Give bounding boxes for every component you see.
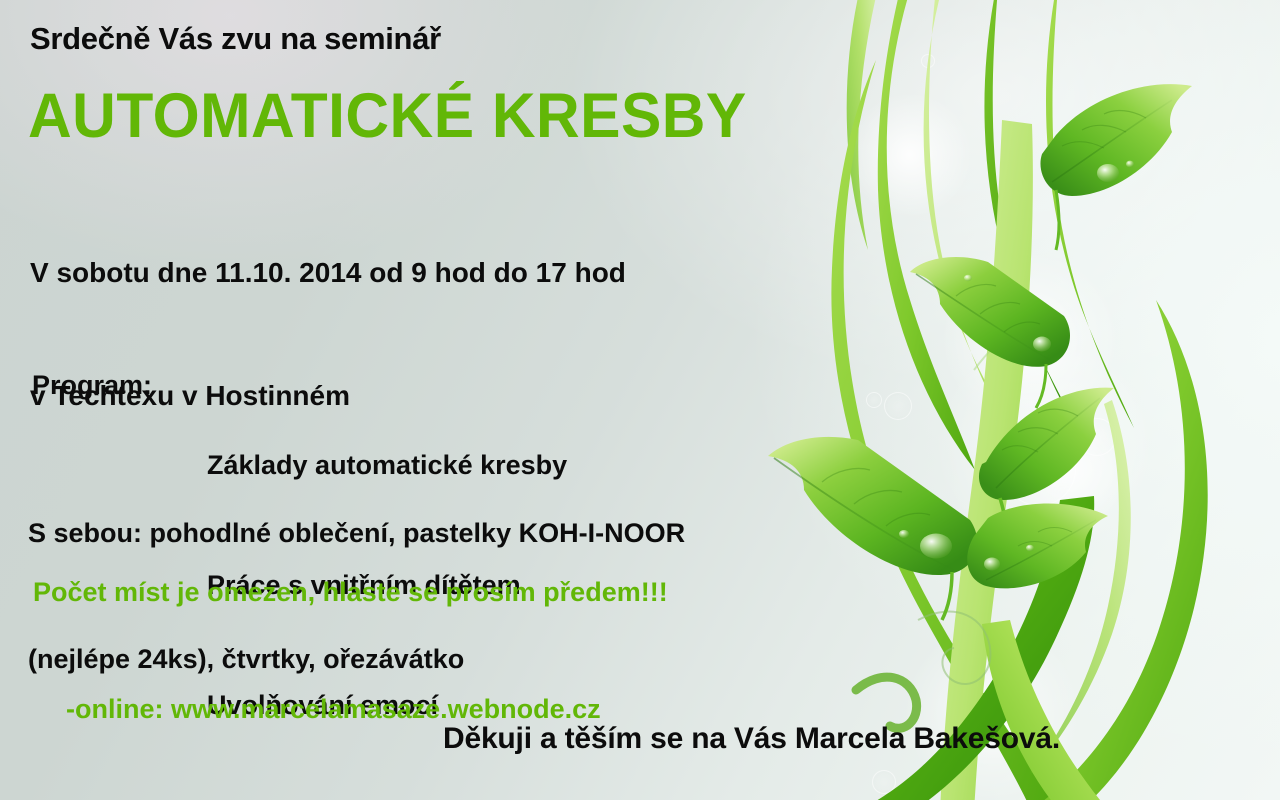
leaf-cluster-top [979, 388, 1114, 548]
water-drop-icon [964, 275, 972, 281]
page-title: AUTOMATICKÉ KRESBY [28, 80, 747, 152]
invite-line: Srdečně Vás zvu na seminář [30, 21, 441, 57]
leaf-cluster-right [967, 504, 1108, 589]
water-drop-icon [1126, 161, 1134, 168]
bokeh-circle-icon [872, 770, 896, 794]
stem-loop-right-inner [1030, 400, 1131, 774]
poster-canvas: Srdečně Vás zvu na seminář AUTOMATICKÉ K… [0, 0, 1280, 800]
bokeh-circle-icon [1078, 418, 1116, 456]
leaf-midrib [986, 520, 1096, 580]
leaf-top-left [910, 257, 1070, 408]
water-drop-icon [920, 534, 952, 559]
plant-illustration [760, 0, 1280, 800]
water-drop-icon [984, 558, 1000, 571]
program-label: Program: [32, 365, 207, 405]
light-glow-icon [1010, 410, 1130, 530]
leaf-stalk [1036, 364, 1046, 408]
stem-long-left [831, 60, 1064, 800]
leaf-top-right [1040, 84, 1192, 250]
light-glow-icon [905, 625, 1080, 800]
leaf-midrib [774, 458, 954, 570]
stem-arc [984, 0, 1086, 446]
leaf-stalk [942, 572, 952, 620]
leaf-cluster-left [768, 437, 977, 620]
tendril-thin [974, 331, 1042, 370]
signature-line: Děkuji a těším se na Vás Marcela Bakešov… [443, 722, 1060, 756]
light-glow-icon [930, 330, 1160, 560]
light-glow-icon [845, 90, 975, 220]
leaf-midrib [996, 398, 1100, 488]
stem-arc [924, 0, 1036, 478]
stem-arc [847, 0, 878, 250]
stem-center [940, 120, 1033, 800]
leaf-stalk [1056, 190, 1059, 250]
leaf-midrib [1052, 100, 1172, 182]
water-drop-icon [1026, 545, 1034, 551]
water-drop-icon [1033, 337, 1051, 352]
tendril-swirl [918, 612, 990, 684]
light-glow-icon [940, 250, 1120, 430]
leaf-midrib [916, 274, 1050, 360]
bokeh-circle-icon [884, 392, 912, 420]
water-drop-icon [899, 530, 909, 538]
contact-block: -online: www.marcelamasaze.webnode.cz -t… [66, 612, 601, 800]
leaf-stalk [1000, 498, 1007, 548]
bokeh-circle-icon [921, 54, 935, 68]
water-drop-icon [1097, 164, 1119, 182]
stem-arc [1046, 0, 1134, 428]
tendril-hook [856, 677, 917, 728]
bokeh-circle-icon [1002, 432, 1076, 506]
stem-cross-lime [982, 620, 1100, 800]
bokeh-circle-icon [866, 392, 882, 408]
stem-arc [878, 0, 975, 470]
limited-seats-notice: Počet míst je omezen, hlaste se prosím p… [33, 573, 668, 612]
bring-line-1: S sebou: pohodlné oblečení, pastelky KOH… [28, 512, 685, 554]
